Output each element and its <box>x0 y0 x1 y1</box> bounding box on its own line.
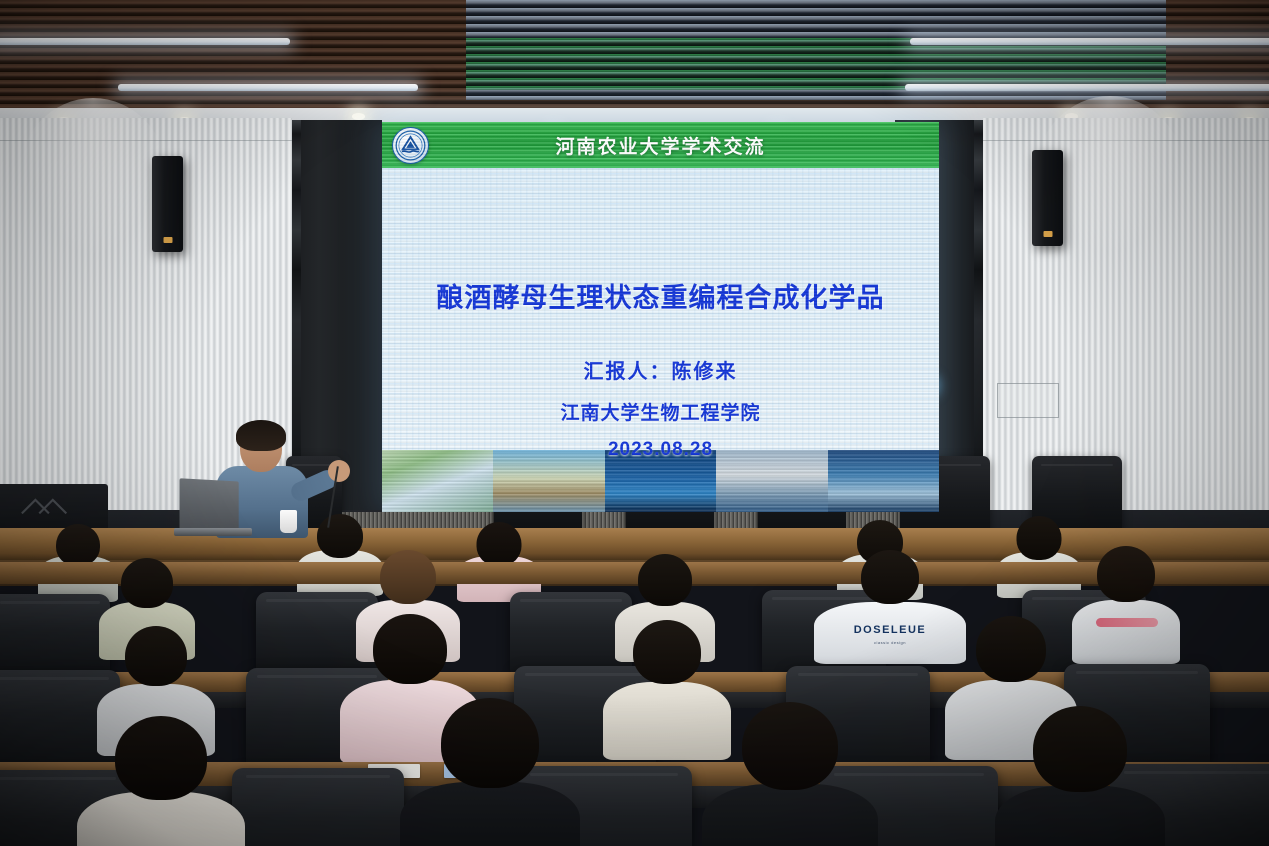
audience-person-r3-5 <box>1078 546 1174 654</box>
downlight-3 <box>352 113 365 120</box>
wood-slat-ceiling <box>0 0 1269 118</box>
person-head <box>373 614 447 684</box>
presenter-laptop-screen <box>180 478 239 534</box>
slide-affiliation-line: 江南大学生物工程学院 <box>382 398 939 425</box>
person-head <box>317 514 363 558</box>
audience-person-r1-2 <box>410 698 570 846</box>
presenter-hair <box>236 420 286 451</box>
person-head <box>1033 706 1127 792</box>
person-body <box>995 786 1165 846</box>
person-head <box>638 554 692 606</box>
person-head <box>1017 516 1062 560</box>
presenter-hand <box>328 460 350 482</box>
lectern-diamond-icon <box>18 496 76 516</box>
speaker-brand-logo <box>1043 231 1052 237</box>
audience-person-r2-3 <box>610 620 724 746</box>
person-head <box>1097 546 1155 602</box>
right-wall-speaker <box>1032 150 1063 246</box>
slide-presenter-line: 汇报人：陈修来 <box>382 355 939 384</box>
person-head <box>441 698 539 788</box>
slide-date-line: 2023.08.28 <box>382 439 939 461</box>
person-head <box>380 550 436 604</box>
slide-meta-block: 汇报人：陈修来 江南大学生物工程学院 2023.08.28 <box>382 355 939 461</box>
audience-area: DOSELEUE classic design <box>0 520 1269 846</box>
right-acoustic-wall <box>983 118 1269 548</box>
hoodie-graphic-text: DOSELEUE <box>854 624 927 636</box>
person-body <box>400 782 580 846</box>
ceiling-green-reflection <box>466 38 1166 90</box>
person-head <box>861 550 919 604</box>
slide-header-bar: 河南农业大学学术交流 <box>382 122 939 168</box>
audience-person-r1-3 <box>712 702 868 846</box>
ceiling-light-strip-2 <box>910 38 1269 45</box>
paper-cup <box>280 510 297 533</box>
person-head <box>121 558 173 608</box>
person-head <box>633 620 701 684</box>
person-head <box>742 702 838 790</box>
audience-seat-r1-2 <box>232 768 404 846</box>
speaker-brand-logo <box>163 237 172 243</box>
ceiling-light-strip-4 <box>905 84 1269 91</box>
ceiling-light-strip-1 <box>0 38 290 45</box>
hoodie-graphic-subtext: classic design <box>874 640 906 645</box>
person-head <box>125 626 187 686</box>
person-head <box>56 524 100 566</box>
slide-main-title: 酿酒酵母生理状态重编程合成化学品 <box>382 276 939 315</box>
presenter-laptop-base <box>174 528 252 536</box>
person-head <box>115 716 207 800</box>
slide-header-title: 河南农业大学学术交流 <box>555 132 765 159</box>
person-body <box>702 784 878 846</box>
university-emblem-icon <box>392 127 429 164</box>
lecture-hall-scene: 河南农业大学学术交流 酿酒酵母生理状态重编程合成化学品 汇报人：陈修来 江南大学… <box>0 0 1269 846</box>
slide-body: 酿酒酵母生理状态重编程合成化学品 汇报人：陈修来 江南大学生物工程学院 2023… <box>382 168 939 512</box>
hoodie-red-print <box>1096 618 1158 627</box>
person-head <box>477 522 522 566</box>
audience-person-r1-1 <box>86 716 236 846</box>
led-presentation-screen: 河南农业大学学术交流 酿酒酵母生理状态重编程合成化学品 汇报人：陈修来 江南大学… <box>382 122 939 512</box>
person-head <box>976 616 1046 682</box>
audience-person-doseleue: DOSELEUE classic design <box>820 550 960 654</box>
person-body <box>1072 600 1180 664</box>
wall-access-panel <box>997 383 1059 418</box>
person-body <box>77 792 245 846</box>
audience-seat-r3-1 <box>0 594 110 674</box>
left-wall-speaker <box>152 156 183 252</box>
ceiling-light-strip-3 <box>118 84 418 91</box>
audience-person-r1-4 <box>1004 706 1156 846</box>
